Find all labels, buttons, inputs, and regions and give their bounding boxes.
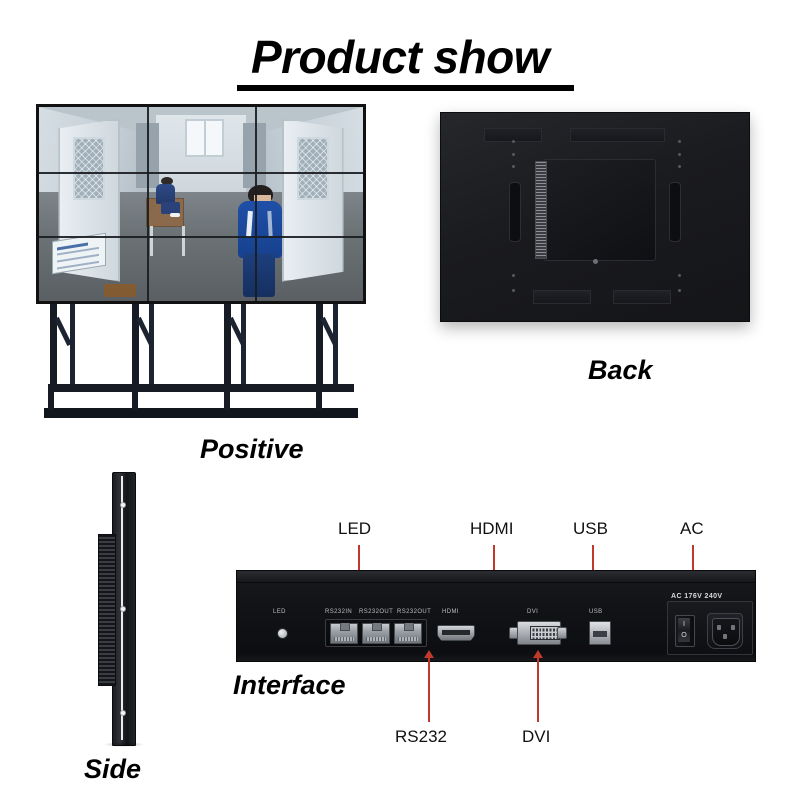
dvi-thumbscrew-right: [557, 627, 567, 639]
stand-post: [333, 304, 338, 392]
student-standing-legs: [243, 254, 275, 297]
leader-line-rs232: [428, 658, 430, 722]
stand-post: [241, 304, 246, 392]
leader-arrow-rs232: [424, 650, 434, 658]
silkscreen-ac-rating: AC 176V 240V: [671, 593, 723, 600]
vesa-mount-hole: [512, 153, 515, 156]
door-grille-left: [73, 137, 105, 201]
callout-label-dvi: DVI: [522, 728, 550, 745]
side-ventilation-grille: [98, 534, 116, 686]
stand-foot-rail: [44, 408, 358, 418]
back-vent-slot: [570, 128, 664, 142]
surveillance-scene: [39, 107, 363, 301]
student-standing: [233, 185, 288, 298]
rs232-port-in[interactable]: [330, 623, 358, 644]
jacket-stripe: [246, 211, 253, 237]
panel-top-rail: [237, 571, 755, 583]
back-handle-right: [669, 182, 681, 242]
usb-port[interactable]: [589, 621, 611, 645]
corridor-window: [185, 119, 224, 158]
student-standing-torso: [238, 201, 282, 257]
callout-label-hdmi: HDMI: [470, 520, 513, 537]
power-switch-rocker[interactable]: I O: [678, 618, 690, 642]
stand-post: [70, 304, 75, 392]
bezel-seam-horizontal-2: [39, 236, 363, 238]
silkscreen-usb: USB: [589, 609, 603, 615]
rs232-port-out-2[interactable]: [394, 623, 422, 644]
vesa-mount-hole: [678, 274, 681, 277]
rs232-port-out-1[interactable]: [362, 623, 390, 644]
dvi-connector-shell: [517, 621, 561, 645]
vesa-mount-hole: [512, 289, 515, 292]
callout-label-led: LED: [338, 520, 371, 537]
stand-post: [149, 304, 154, 392]
caption-interface: Interface: [233, 672, 346, 699]
video-wall-positive-view: [36, 104, 366, 434]
monitor-back-view: [440, 112, 750, 322]
back-center-screw: [593, 259, 598, 264]
iec-pin-live: [717, 625, 721, 630]
interface-panel-view: LED RS232IN RS232OUT RS232OUT HDMI DVI U…: [236, 570, 756, 662]
stand-leg: [224, 392, 230, 410]
silkscreen-rs232out-1: RS232OUT: [359, 609, 393, 615]
door-grille-right: [297, 137, 329, 201]
vesa-mount-hole: [678, 153, 681, 156]
page-title-text: Product show: [251, 34, 549, 80]
back-panel: [440, 112, 750, 322]
power-switch[interactable]: I O: [675, 615, 695, 647]
vesa-mount-hole: [678, 289, 681, 292]
caption-back: Back: [588, 357, 653, 384]
side-screw: [120, 606, 126, 612]
ac-power-inlet[interactable]: [707, 613, 743, 649]
vesa-mount-hole: [678, 140, 681, 143]
corridor-object: [104, 284, 136, 298]
stand-rail-mid: [48, 384, 354, 392]
caption-side: Side: [84, 756, 141, 783]
vesa-mount-hole: [512, 274, 515, 277]
rs232-port-group[interactable]: [325, 619, 427, 647]
stand-leg: [316, 392, 322, 410]
hdmi-port[interactable]: [437, 625, 475, 641]
caption-positive: Positive: [200, 436, 304, 463]
back-center-module: [543, 159, 656, 261]
video-wall-screen: [36, 104, 366, 304]
interface-panel: LED RS232IN RS232OUT RS232OUT HDMI DVI U…: [236, 570, 756, 662]
power-switch-off-mark: O: [678, 632, 690, 639]
iec-pin-neutral: [731, 625, 735, 630]
silkscreen-rs232out-2: RS232OUT: [397, 609, 431, 615]
leader-arrow-dvi: [533, 650, 543, 658]
leader-line-dvi: [537, 658, 539, 722]
student-seated-torso: [156, 184, 174, 204]
dvi-pin-grid: [530, 626, 560, 640]
student-seated-shoe: [170, 213, 180, 217]
callout-label-ac: AC: [680, 520, 704, 537]
page-title: Product show: [0, 34, 800, 80]
vesa-mount-hole: [512, 140, 515, 143]
side-shadow: [104, 742, 144, 747]
bezel-seam-horizontal-1: [39, 172, 363, 174]
side-screw: [120, 502, 126, 508]
silkscreen-hdmi: HDMI: [442, 609, 459, 615]
silkscreen-dvi: DVI: [527, 609, 538, 615]
stand-leg: [48, 392, 54, 410]
side-screw: [120, 710, 126, 716]
student-seated: [152, 177, 181, 220]
silkscreen-rs232in: RS232IN: [325, 609, 352, 615]
jacket-stripe-secondary: [268, 211, 273, 236]
bezel-seam-vertical-2: [255, 107, 257, 301]
stand-leg: [132, 392, 138, 410]
back-heatsink: [535, 161, 547, 259]
video-wall-stand: [44, 304, 358, 422]
callout-label-rs232: RS232: [395, 728, 447, 745]
led-indicator-port[interactable]: [277, 628, 288, 639]
title-underline: [237, 85, 574, 91]
dvi-port[interactable]: [509, 621, 567, 643]
bezel-seam-vertical-1: [147, 107, 149, 301]
silkscreen-led: LED: [273, 609, 286, 615]
ac-inlet-body: [712, 618, 740, 646]
panel-bottom-rail: [237, 654, 755, 661]
door-right: [282, 119, 344, 282]
vesa-mount-hole: [678, 165, 681, 168]
monitor-side-view: [88, 472, 158, 752]
back-handle-left: [509, 182, 521, 242]
iec-pin-earth: [723, 634, 727, 639]
back-vent-slot: [613, 290, 670, 304]
back-vent-slot: [533, 290, 590, 304]
product-show-page: Product show: [0, 0, 800, 800]
student-seated-legs: [161, 202, 180, 214]
vesa-mount-hole: [512, 165, 515, 168]
callout-label-usb: USB: [573, 520, 608, 537]
power-switch-on-mark: I: [678, 621, 690, 628]
